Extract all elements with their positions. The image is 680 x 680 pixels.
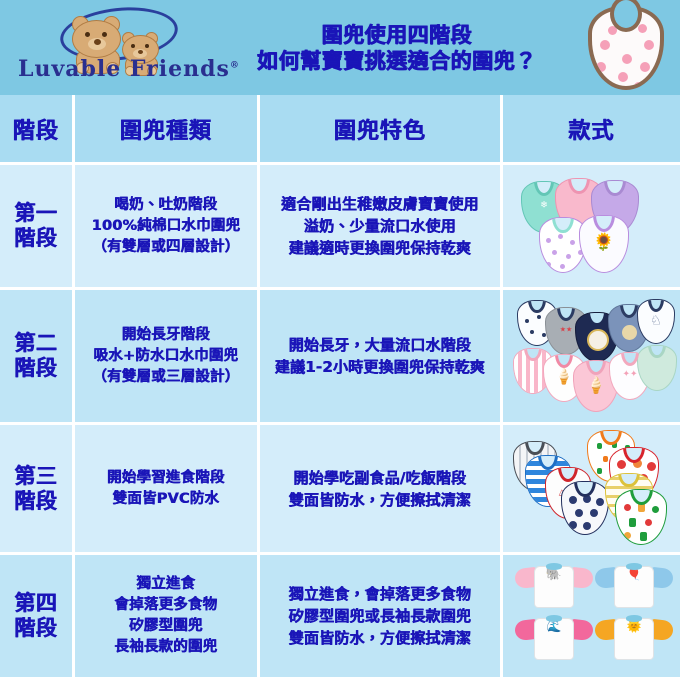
absorbent-waterproof-bibs-photo: ★★ ♘ (503, 290, 680, 422)
feature-3-line-1: 開始學吃副食品/吃飯階段 (289, 467, 471, 489)
type-3-line-2: 雙面皆PVC防水 (107, 489, 225, 510)
column-header-style: 款式 (503, 95, 680, 165)
stages-table: 階段 圍兜種類 圍兜特色 款式 第一 階段 喝奶、吐奶階段 (0, 95, 680, 680)
pastel-cotton-bibs-photo: ❄ (503, 165, 680, 287)
stage-1-line-1: 第一 (15, 201, 58, 226)
stage-3-line-1: 第三 (15, 464, 58, 489)
feature-cell-2: 開始長牙，大量流口水階段 建議1-2小時更換圍兜保持乾爽 (260, 290, 503, 425)
long-sleeve-smock-bibs-photo: 🐘 🎈 (503, 555, 680, 677)
pvc-waterproof-bibs-photo: △△△ (503, 425, 680, 552)
title-line-1: 圍兜使用四階段 (222, 22, 572, 48)
smock-pink-elephant: 🐘 (515, 563, 593, 611)
column-header-style-label: 款式 (568, 113, 614, 145)
brand-name: Luvable Friends® (18, 56, 213, 82)
type-3-line-1: 開始學習進食階段 (107, 468, 225, 489)
feature-cell-3: 開始學吃副食品/吃飯階段 雙面皆防水，方便擦拭清潔 (260, 425, 503, 555)
table-row: 第三 階段 開始學習進食階段 雙面皆PVC防水 開始學吃副食品/吃飯階段 雙面皆… (0, 425, 680, 555)
feature-1-line-2: 溢奶、少量流口水使用 (281, 215, 479, 237)
type-cell-3: 開始學習進食階段 雙面皆PVC防水 (75, 425, 260, 555)
type-4-line-4: 長袖長款的圍兜 (115, 637, 218, 658)
type-1-line-1: 喝奶、吐奶階段 (92, 195, 241, 216)
stage-cell-4: 第四 階段 (0, 555, 75, 680)
column-header-type: 圍兜種類 (75, 95, 260, 165)
table-row: 第一 階段 喝奶、吐奶階段 100%純棉口水巾圍兜 （有雙層或四層設計） 適合剛… (0, 165, 680, 290)
feature-1-line-3: 建議適時更換圍兜保持乾爽 (281, 237, 479, 259)
feature-2-line-2: 建議1-2小時更換圍兜保持乾爽 (275, 356, 485, 378)
type-cell-1: 喝奶、吐奶階段 100%純棉口水巾圍兜 （有雙層或四層設計） (75, 165, 260, 290)
table-row: 第四 階段 獨立進食 會掉落更多食物 矽膠型圍兜 長袖長款的圍兜 獨立進食，會掉… (0, 555, 680, 680)
stage-1-line-2: 階段 (15, 226, 58, 251)
type-2-line-1: 開始長牙階段 (93, 325, 240, 346)
stage-3-line-2: 階段 (15, 489, 58, 514)
title-line-2: 如何幫寶寶挑選適合的圍兜？ (222, 48, 572, 74)
type-2-line-3: （有雙層或三層設計） (93, 367, 240, 388)
stage-4-line-1: 第四 (15, 591, 58, 616)
brand-name-text: Luvable Friends (18, 56, 230, 82)
smock-hotpink-mermaid: 🌊 (515, 615, 593, 663)
column-header-stage-label: 階段 (13, 113, 59, 145)
column-header-stage: 階段 (0, 95, 75, 165)
smock-orange-sun: 🌞 (595, 615, 673, 663)
feature-4-line-3: 雙面皆防水，方便擦拭清潔 (289, 627, 471, 649)
brand-logo: Luvable Friends® (18, 4, 213, 90)
type-1-line-2: 100%純棉口水巾圍兜 (92, 216, 241, 237)
stage-cell-1: 第一 階段 (0, 165, 75, 290)
type-cell-4: 獨立進食 會掉落更多食物 矽膠型圍兜 長袖長款的圍兜 (75, 555, 260, 680)
stage-cell-3: 第三 階段 (0, 425, 75, 555)
column-header-feature-label: 圍兜特色 (334, 113, 426, 145)
table-header-row: 階段 圍兜種類 圍兜特色 款式 (0, 95, 680, 165)
polka-dot-bib-icon (588, 6, 664, 90)
type-1-line-3: （有雙層或四層設計） (92, 237, 241, 258)
infographic-page: Luvable Friends® 圍兜使用四階段 如何幫寶寶挑選適合的圍兜？ (0, 0, 680, 680)
type-4-line-3: 矽膠型圍兜 (115, 616, 218, 637)
style-cell-3[interactable]: △△△ (503, 425, 680, 555)
feature-cell-1: 適合剛出生稚嫩皮膚寶寶使用 溢奶、少量流口水使用 建議適時更換圍兜保持乾爽 (260, 165, 503, 290)
column-header-feature: 圍兜特色 (260, 95, 503, 165)
stage-2-line-2: 階段 (15, 356, 58, 381)
feature-4-line-1: 獨立進食，會掉落更多食物 (289, 583, 471, 605)
table-row: 第二 階段 開始長牙階段 吸水+防水口水巾圍兜 （有雙層或三層設計） 開始長牙，… (0, 290, 680, 425)
feature-4-line-2: 矽膠型圍兜或長袖長款圍兜 (289, 605, 471, 627)
page-title: 圍兜使用四階段 如何幫寶寶挑選適合的圍兜？ (222, 22, 572, 74)
column-header-type-label: 圍兜種類 (120, 113, 212, 145)
type-4-line-1: 獨立進食 (115, 574, 218, 595)
feature-cell-4: 獨立進食，會掉落更多食物 矽膠型圍兜或長袖長款圍兜 雙面皆防水，方便擦拭清潔 (260, 555, 503, 680)
style-cell-2[interactable]: ★★ ♘ (503, 290, 680, 425)
feature-1-line-1: 適合剛出生稚嫩皮膚寶寶使用 (281, 193, 479, 215)
stage-4-line-2: 階段 (15, 616, 58, 641)
type-cell-2: 開始長牙階段 吸水+防水口水巾圍兜 （有雙層或三層設計） (75, 290, 260, 425)
style-cell-4[interactable]: 🐘 🎈 (503, 555, 680, 680)
style-cell-1[interactable]: ❄ (503, 165, 680, 290)
feature-3-line-2: 雙面皆防水，方便擦拭清潔 (289, 489, 471, 511)
type-4-line-2: 會掉落更多食物 (115, 595, 218, 616)
type-2-line-2: 吸水+防水口水巾圍兜 (93, 346, 240, 367)
feature-2-line-1: 開始長牙，大量流口水階段 (275, 334, 485, 356)
stage-2-line-1: 第二 (15, 331, 58, 356)
stage-cell-2: 第二 階段 (0, 290, 75, 425)
smock-blue-balloons: 🎈 (595, 563, 673, 611)
page-header: Luvable Friends® 圍兜使用四階段 如何幫寶寶挑選適合的圍兜？ (0, 0, 680, 95)
